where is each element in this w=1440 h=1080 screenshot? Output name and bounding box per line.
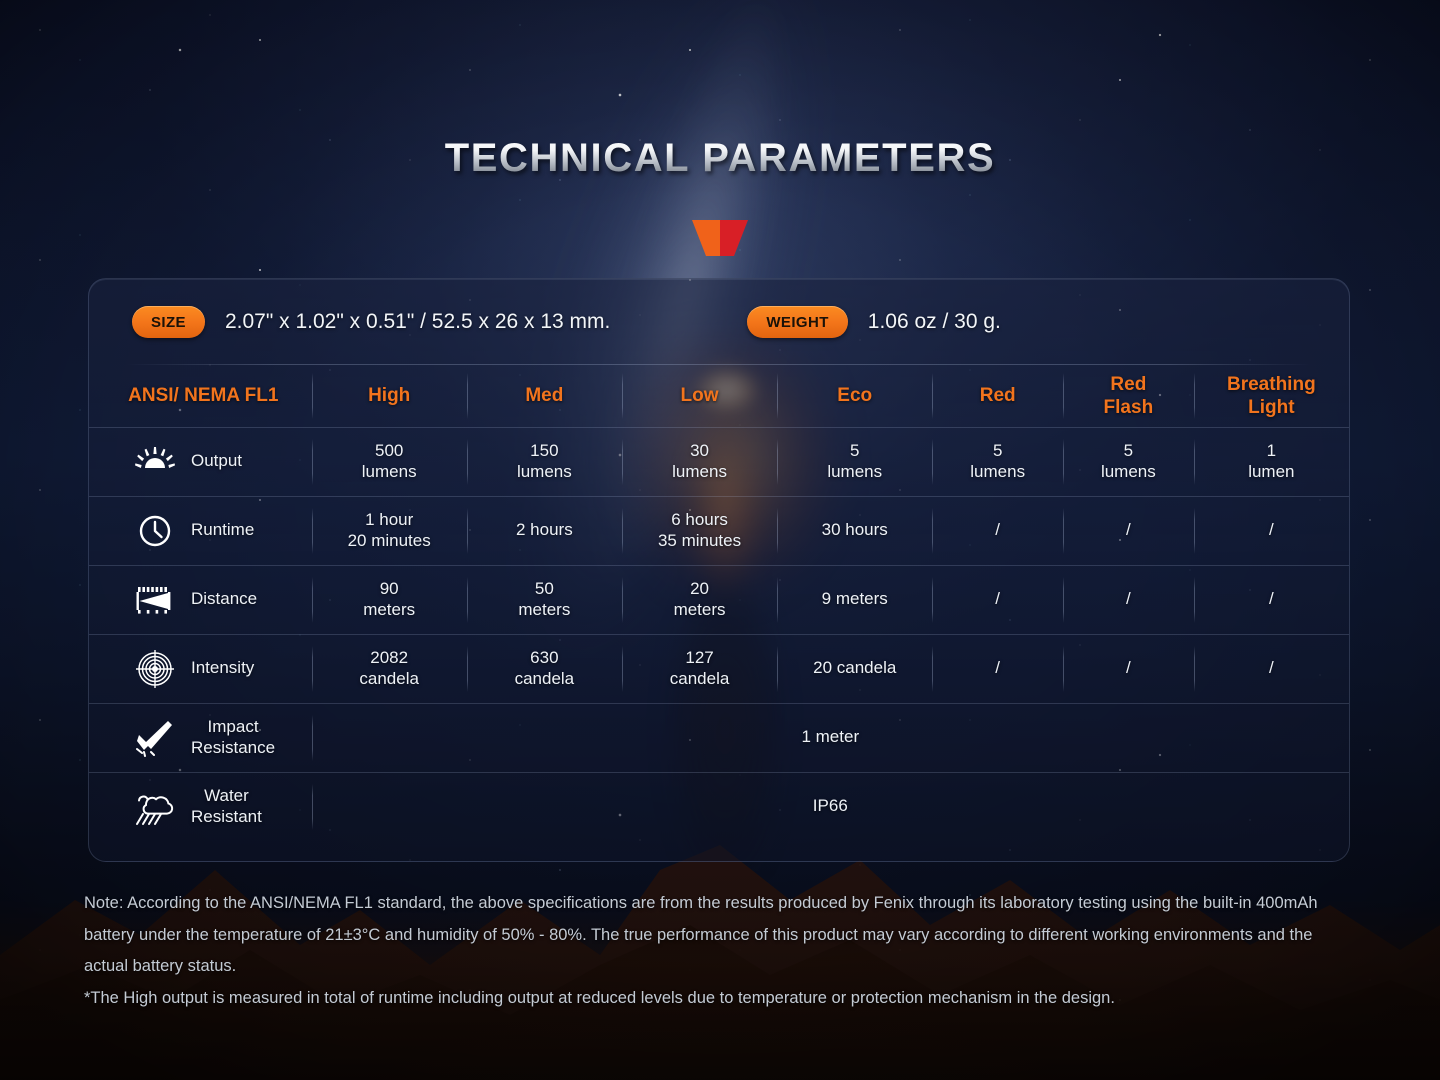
- weight-value: 1.06 oz / 30 g.: [868, 310, 1001, 334]
- row-label-text: Water Resistant: [191, 786, 262, 827]
- cell-distance-high: 90 meters: [312, 565, 467, 634]
- cell-runtime-breathing: /: [1194, 496, 1349, 565]
- cell-distance-low: 20 meters: [622, 565, 777, 634]
- column-header-low: Low: [622, 365, 777, 427]
- page-background: TECHNICAL PARAMETERS SIZE 2.07" x 1.02" …: [0, 0, 1440, 1080]
- size-value: 2.07" x 1.02" x 0.51" / 52.5 x 26 x 13 m…: [225, 310, 610, 334]
- cell-distance-med: 50 meters: [467, 565, 622, 634]
- column-header-red-flash: Red Flash: [1063, 365, 1194, 427]
- row-label-water-resistant: Water Resistant: [89, 772, 312, 841]
- cell-output-breathing: 1 lumen: [1194, 427, 1349, 496]
- cell-output-med: 150 lumens: [467, 427, 622, 496]
- table-row: Runtime 1 hour 20 minutes 2 hours 6 hour…: [89, 496, 1349, 565]
- cell-output-low: 30 lumens: [622, 427, 777, 496]
- column-header-eco: Eco: [777, 365, 932, 427]
- cell-output-red: 5 lumens: [932, 427, 1063, 496]
- column-header-red: Red: [932, 365, 1063, 427]
- size-group: SIZE 2.07" x 1.02" x 0.51" / 52.5 x 26 x…: [132, 306, 610, 338]
- column-header-med: Med: [467, 365, 622, 427]
- cell-distance-eco: 9 meters: [777, 565, 932, 634]
- table-row: Water Resistant IP66: [89, 772, 1349, 841]
- table-row: Impact Resistance 1 meter: [89, 703, 1349, 772]
- size-weight-bar: SIZE 2.07" x 1.02" x 0.51" / 52.5 x 26 x…: [89, 279, 1349, 365]
- column-header-breathing-light: Breathing Light: [1194, 365, 1349, 427]
- cell-output-red-flash: 5 lumens: [1063, 427, 1194, 496]
- chevron-divider-wrap: [0, 218, 1440, 263]
- size-badge: SIZE: [132, 306, 205, 338]
- footnote-line-2: *The High output is measured in total of…: [84, 983, 1356, 1015]
- cell-intensity-high: 2082 candela: [312, 634, 467, 703]
- cell-intensity-eco: 20 candela: [777, 634, 932, 703]
- table-row: Intensity 2082 candela 630 candela 127 c…: [89, 634, 1349, 703]
- weight-badge: WEIGHT: [747, 306, 847, 338]
- cell-distance-breathing: /: [1194, 565, 1349, 634]
- cell-impact-resistance-value: 1 meter: [312, 703, 1349, 772]
- impact-icon: [133, 719, 177, 757]
- cell-intensity-red: /: [932, 634, 1063, 703]
- cell-runtime-eco: 30 hours: [777, 496, 932, 565]
- row-label-output: Output: [89, 427, 312, 496]
- table-row: Distance 90 meters 50 meters 20 meters 9…: [89, 565, 1349, 634]
- column-header-standard: ANSI/ NEMA FL1: [89, 365, 312, 427]
- row-label-text: Impact Resistance: [191, 717, 275, 758]
- cell-distance-red: /: [932, 565, 1063, 634]
- cell-output-eco: 5 lumens: [777, 427, 932, 496]
- specifications-table: ANSI/ NEMA FL1 High Med Low Eco Red Red …: [89, 365, 1349, 841]
- page-title-wrap: TECHNICAL PARAMETERS: [0, 136, 1440, 181]
- row-label-text: Distance: [191, 589, 257, 610]
- weight-group: WEIGHT 1.06 oz / 30 g.: [747, 306, 1001, 338]
- table-row: Output 500 lumens 150 lumens 30 lumens 5…: [89, 427, 1349, 496]
- ruler-beam-icon: [133, 584, 177, 616]
- chevron-down-icon: [690, 218, 750, 258]
- table-header-row: ANSI/ NEMA FL1 High Med Low Eco Red Red …: [89, 365, 1349, 427]
- target-icon: [133, 650, 177, 688]
- row-label-intensity: Intensity: [89, 634, 312, 703]
- row-label-impact-resistance: Impact Resistance: [89, 703, 312, 772]
- cell-intensity-low: 127 candela: [622, 634, 777, 703]
- row-label-text: Output: [191, 451, 242, 472]
- table-body: Output 500 lumens 150 lumens 30 lumens 5…: [89, 427, 1349, 841]
- cell-runtime-high: 1 hour 20 minutes: [312, 496, 467, 565]
- table-head: ANSI/ NEMA FL1 High Med Low Eco Red Red …: [89, 365, 1349, 427]
- rain-cloud-icon: [133, 788, 177, 826]
- cell-intensity-red-flash: /: [1063, 634, 1194, 703]
- clock-icon: [133, 514, 177, 548]
- footnote: Note: According to the ANSI/NEMA FL1 sta…: [84, 888, 1356, 1015]
- cell-runtime-low: 6 hours 35 minutes: [622, 496, 777, 565]
- column-header-high: High: [312, 365, 467, 427]
- row-label-runtime: Runtime: [89, 496, 312, 565]
- cell-runtime-red-flash: /: [1063, 496, 1194, 565]
- row-label-text: Intensity: [191, 658, 254, 679]
- row-label-text: Runtime: [191, 520, 254, 541]
- cell-intensity-med: 630 candela: [467, 634, 622, 703]
- spec-panel: SIZE 2.07" x 1.02" x 0.51" / 52.5 x 26 x…: [88, 278, 1350, 862]
- cell-output-high: 500 lumens: [312, 427, 467, 496]
- cell-intensity-breathing: /: [1194, 634, 1349, 703]
- footnote-line-1: Note: According to the ANSI/NEMA FL1 sta…: [84, 888, 1356, 983]
- row-label-distance: Distance: [89, 565, 312, 634]
- cell-runtime-med: 2 hours: [467, 496, 622, 565]
- cell-distance-red-flash: /: [1063, 565, 1194, 634]
- page-title: TECHNICAL PARAMETERS: [445, 136, 996, 181]
- sunburst-icon: [133, 447, 177, 477]
- cell-water-resistant-value: IP66: [312, 772, 1349, 841]
- cell-runtime-red: /: [932, 496, 1063, 565]
